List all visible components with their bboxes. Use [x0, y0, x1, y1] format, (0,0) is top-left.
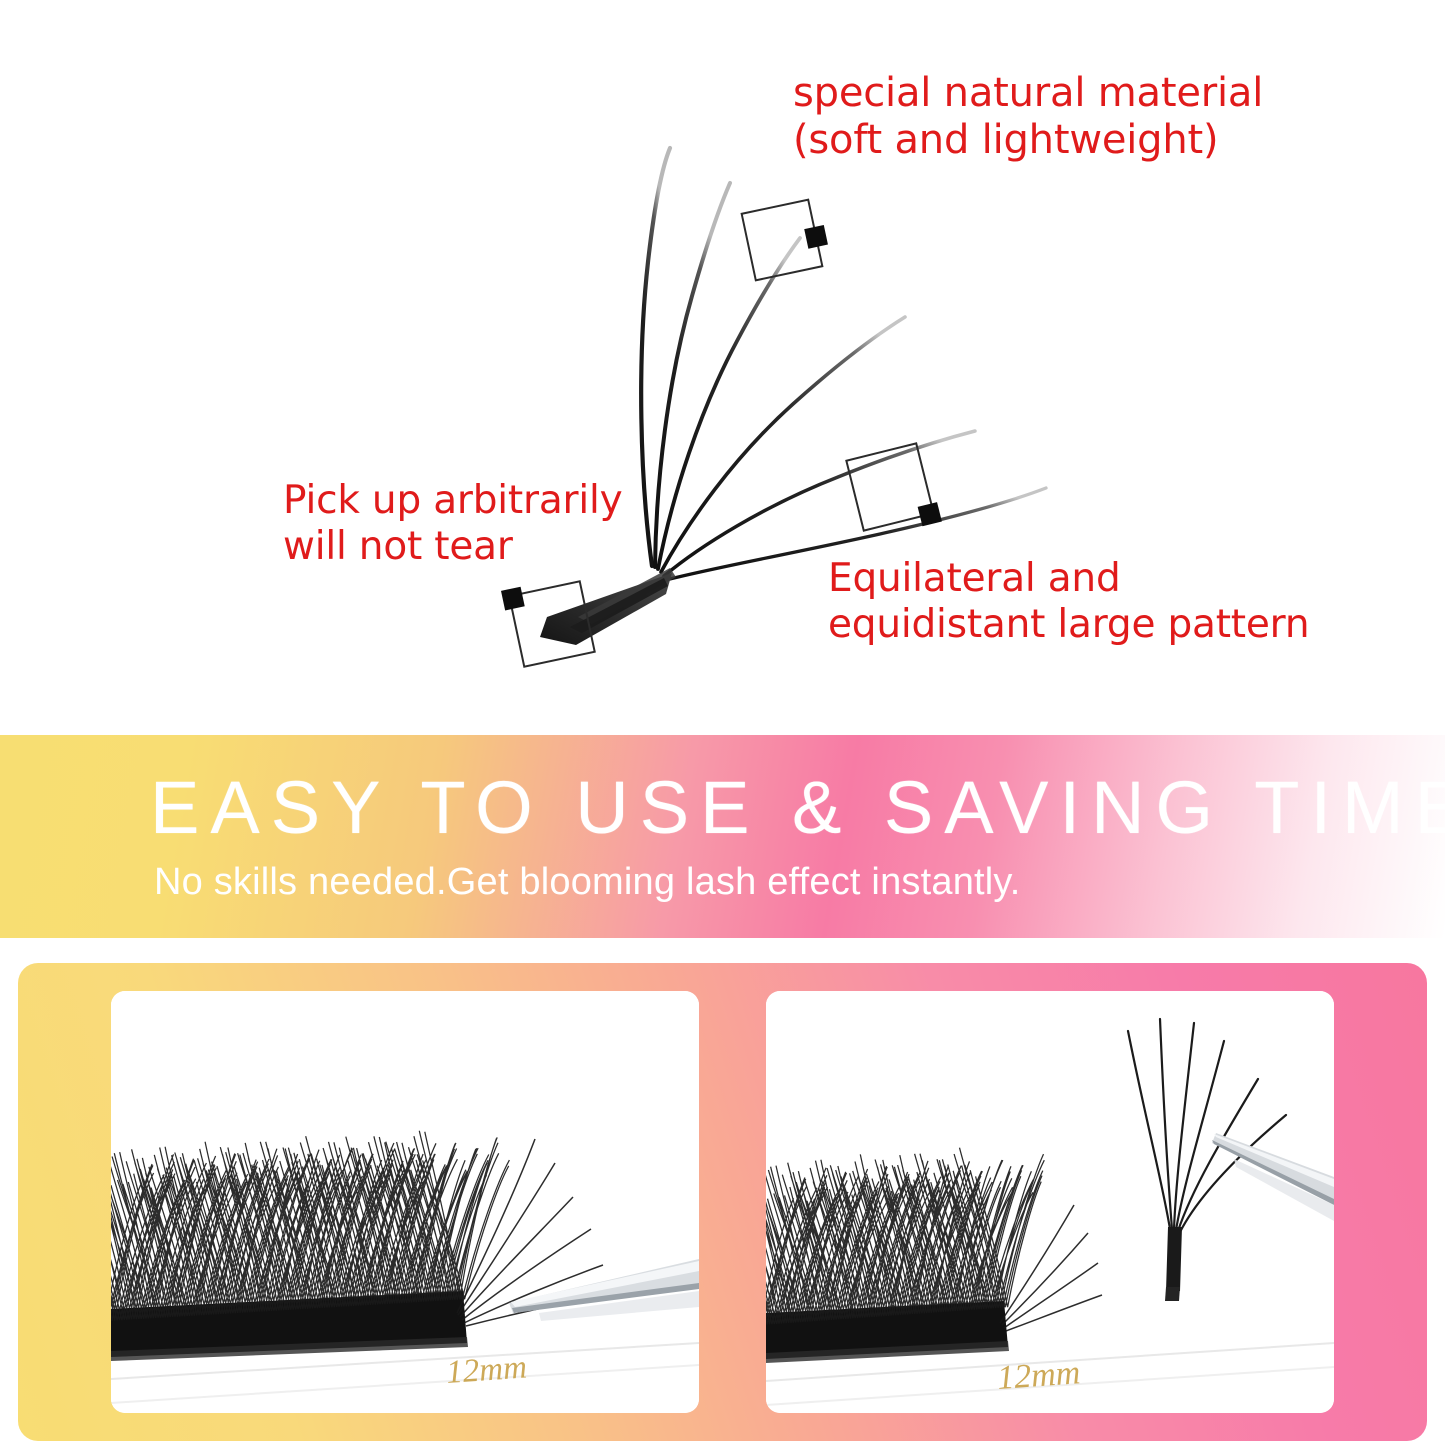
callout-marker-top: [742, 198, 832, 281]
headline-banner: EASY TO USE & SAVING TIME No skills need…: [0, 735, 1445, 938]
callout-special-natural-material: special natural material (soft and light…: [793, 70, 1263, 164]
banner-subtitle: No skills needed.Get blooming lash effec…: [154, 863, 1021, 901]
diagram-section: special natural material (soft and light…: [0, 0, 1445, 735]
callout-equilateral-pattern: Equilateral and equidistant large patter…: [828, 556, 1309, 648]
product-marketing-image: special natural material (soft and light…: [0, 0, 1445, 1445]
banner-title: EASY TO USE & SAVING TIME: [150, 771, 1445, 845]
product-photos-panel: 12mm: [18, 963, 1427, 1441]
tray-label-right: 12mm: [996, 1354, 1081, 1397]
photo-lash-tray-with-tweezers: 12mm: [111, 991, 699, 1413]
tray-label-left: 12mm: [445, 1349, 528, 1391]
photo-lash-fan-pickup: 12mm: [766, 991, 1334, 1413]
photo-card-left: 12mm: [111, 991, 699, 1413]
photo-card-right: 12mm: [766, 991, 1334, 1413]
headline-banner-inner: EASY TO USE & SAVING TIME No skills need…: [150, 735, 1330, 938]
callout-pick-up-arbitrarily: Pick up arbitrarily will not tear: [283, 478, 623, 570]
